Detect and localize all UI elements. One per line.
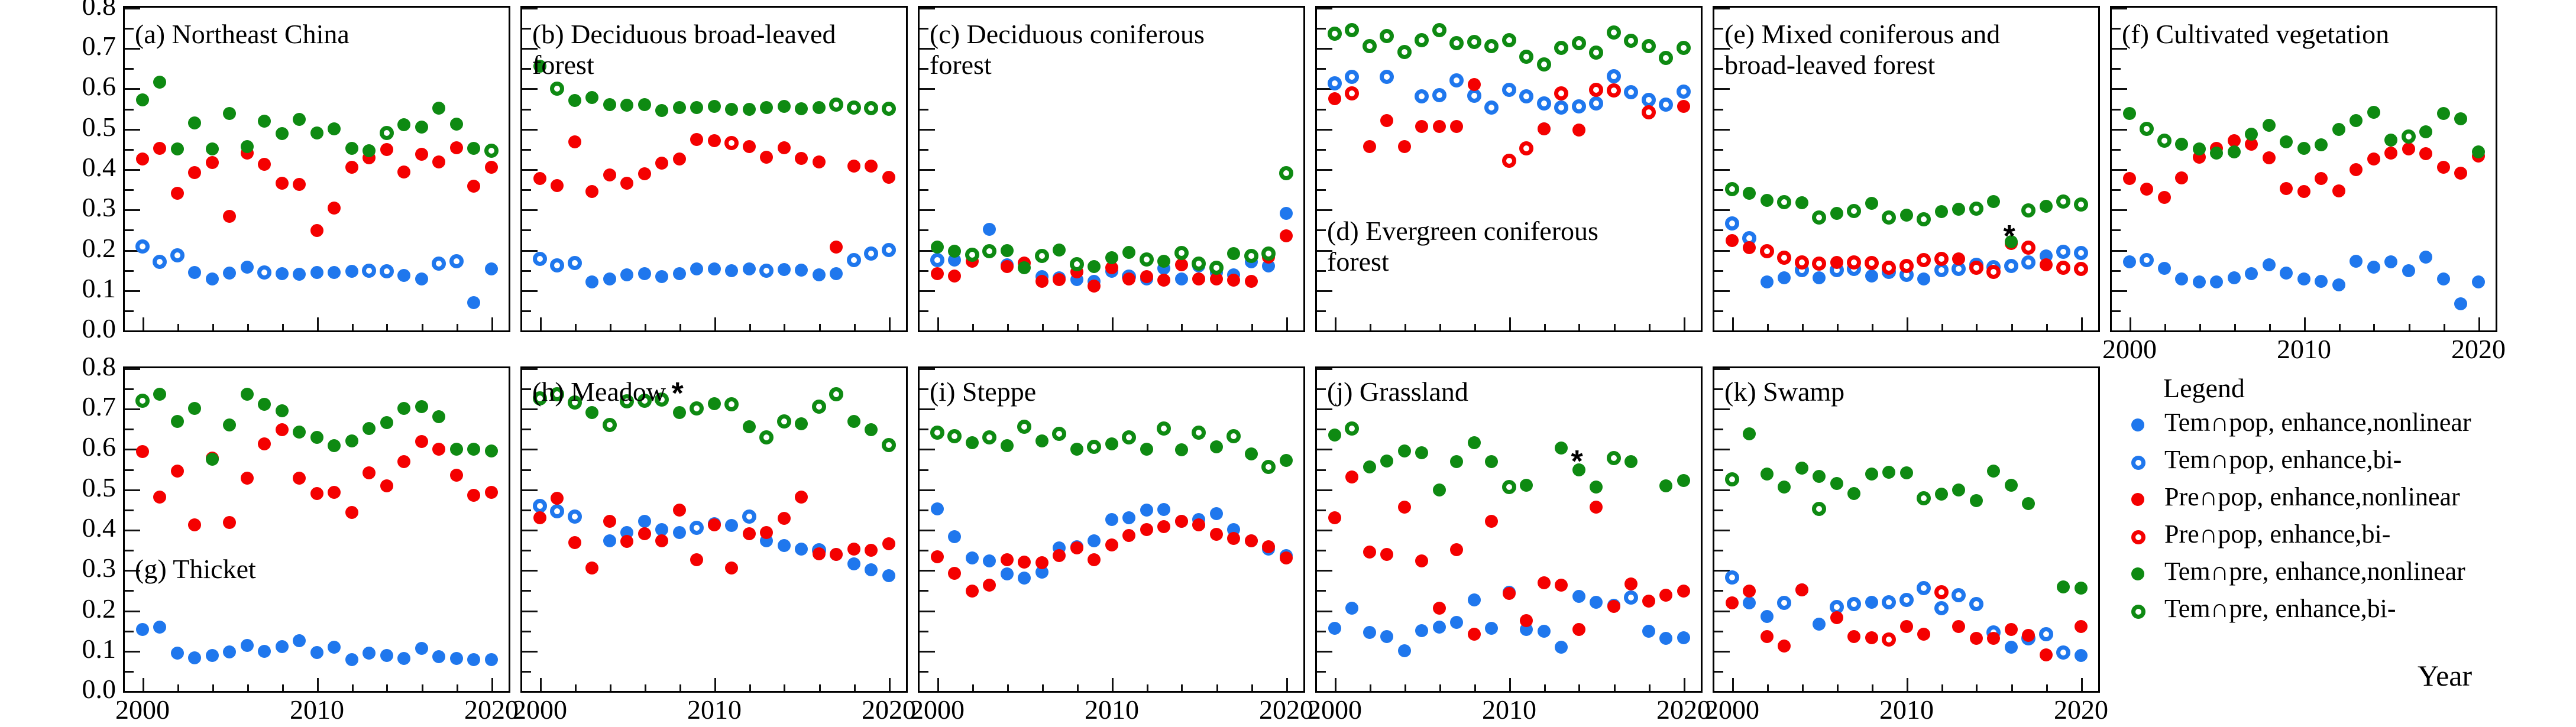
data-point <box>345 653 358 666</box>
y-tick-a <box>125 48 140 50</box>
data-point <box>415 121 428 134</box>
y-tick-c <box>920 290 935 292</box>
panel-label-c: (c) Deciduous coniferous forest <box>930 19 1205 81</box>
y-tick-d <box>1317 250 1332 252</box>
data-point <box>1227 247 1240 260</box>
panel-label-f: (f) Cultivated vegetation <box>2122 19 2389 50</box>
data-point <box>397 402 410 415</box>
data-point <box>1865 270 1878 283</box>
data-point <box>2140 183 2153 196</box>
data-point <box>2005 623 2018 636</box>
data-point <box>467 180 480 193</box>
data-point <box>533 172 546 185</box>
data-point <box>1157 255 1170 268</box>
x-tick-a <box>386 324 388 330</box>
data-point <box>620 535 633 548</box>
y-tick-k <box>1714 429 1723 430</box>
data-point <box>135 394 150 408</box>
data-point <box>533 60 546 73</box>
x-tick-a <box>352 324 354 330</box>
data-point <box>568 256 582 270</box>
data-point <box>1725 472 1739 486</box>
y-tick-label: 0.6 <box>82 433 116 460</box>
data-point <box>603 272 616 285</box>
y-tick-c <box>920 189 928 191</box>
data-point <box>813 101 826 114</box>
y-tick-j <box>1317 388 1326 390</box>
data-point <box>982 244 996 258</box>
data-point <box>550 387 564 401</box>
data-point <box>467 489 480 502</box>
x-tick-g <box>491 678 493 691</box>
data-point <box>1001 260 1014 273</box>
data-point <box>206 156 219 169</box>
data-point <box>1380 114 1393 127</box>
data-point <box>1761 194 1774 207</box>
y-tick-f <box>2112 189 2121 191</box>
open-circle-icon <box>2131 456 2145 470</box>
panel-d: (d) Evergreen coniferous forest <box>1315 6 1703 332</box>
y-tick-b <box>522 310 531 312</box>
y-tick-j <box>1317 590 1326 592</box>
data-point <box>1502 154 1516 168</box>
data-point <box>864 101 878 115</box>
data-point <box>1485 515 1498 528</box>
data-point <box>1986 265 2001 279</box>
y-tick-e <box>1714 250 1730 252</box>
x-tick-e <box>1872 324 1873 330</box>
data-point <box>1743 187 1756 200</box>
data-point <box>1677 85 1691 99</box>
data-point <box>485 653 498 666</box>
data-point <box>1485 455 1498 468</box>
data-point <box>1812 210 1826 225</box>
panel-label-i: (i) Steppe <box>930 377 1036 407</box>
data-point <box>1175 272 1188 285</box>
data-point <box>2437 272 2450 285</box>
y-tick-label: 0.8 <box>82 0 116 20</box>
data-point <box>2332 184 2345 197</box>
data-point <box>293 268 306 281</box>
y-tick-i <box>920 388 928 390</box>
data-point <box>690 133 703 146</box>
data-point <box>1607 451 1621 465</box>
y-axis-title: q value of interaction detection <box>0 0 33 73</box>
y-tick-label: 0.4 <box>82 514 116 541</box>
data-point <box>1328 622 1341 635</box>
x-tick-d <box>1684 317 1685 330</box>
data-point <box>171 142 184 155</box>
data-point <box>2056 194 2070 209</box>
x-tick-e <box>1802 324 1804 330</box>
data-point <box>1899 259 1914 273</box>
data-point <box>1969 202 1983 216</box>
data-point <box>485 161 498 174</box>
data-point <box>1035 556 1048 569</box>
data-point <box>655 270 668 283</box>
legend-item-label: Pre∩pop, enhance,bi- <box>2164 521 2390 548</box>
y-tick-b <box>522 250 538 252</box>
data-point <box>223 210 236 223</box>
x-tick-c <box>1286 317 1288 330</box>
y-tick-c <box>920 88 935 90</box>
y-tick-f <box>2112 129 2127 131</box>
y-tick-e <box>1714 169 1730 171</box>
y-tick-b <box>522 290 538 292</box>
data-point <box>2056 245 2070 259</box>
x-tick-h <box>749 684 751 691</box>
x-tick-label: 2000 <box>910 694 965 725</box>
data-point <box>1433 120 1446 133</box>
data-point <box>2040 258 2053 271</box>
filled-circle-icon <box>2131 567 2144 580</box>
data-point <box>1397 45 1412 59</box>
data-point <box>620 394 634 408</box>
y-tick-k <box>1714 489 1730 491</box>
x-tick-label: 2000 <box>2102 333 2157 365</box>
x-tick-c <box>1181 324 1183 330</box>
data-point <box>690 262 703 275</box>
data-point <box>223 418 236 431</box>
data-point <box>1642 93 1656 107</box>
data-point <box>1677 585 1690 598</box>
y-tick-c <box>920 209 935 211</box>
x-tick-label: 2010 <box>290 694 344 725</box>
data-point <box>432 257 446 271</box>
data-point <box>1830 256 1843 269</box>
data-point <box>865 423 878 436</box>
data-point <box>2075 582 2088 595</box>
data-point <box>1589 96 1603 111</box>
data-point <box>1345 470 1358 483</box>
data-point <box>830 241 843 254</box>
x-tick-d <box>1649 324 1651 330</box>
y-tick-label: 0.0 <box>82 315 116 342</box>
panel-e: *(e) Mixed coniferous and broad-leaved f… <box>1713 6 2100 332</box>
data-point <box>708 397 721 410</box>
data-point <box>1105 251 1118 264</box>
data-point <box>1105 513 1118 526</box>
x-tick-e <box>2046 324 2048 330</box>
data-point <box>1624 455 1637 468</box>
data-point <box>1017 420 1031 434</box>
x-tick-i <box>1042 684 1044 691</box>
panel-f: (f) Cultivated vegetation <box>2110 6 2497 332</box>
data-point <box>2228 271 2241 284</box>
data-point <box>1280 551 1293 564</box>
data-point <box>1192 272 1205 285</box>
data-point <box>830 267 843 280</box>
y-tick-d <box>1317 68 1326 70</box>
y-tick-g <box>125 611 140 612</box>
y-tick-d <box>1317 310 1326 312</box>
data-point <box>1952 620 1965 633</box>
data-point <box>725 519 738 532</box>
data-point <box>310 266 323 279</box>
y-tick-k <box>1714 550 1723 551</box>
x-tick-d <box>1614 324 1616 330</box>
data-point <box>1917 581 1931 595</box>
y-tick-i <box>920 530 935 531</box>
data-point <box>1468 593 1481 606</box>
y-tick-g <box>125 550 134 551</box>
data-point <box>223 267 236 280</box>
x-tick-i <box>1112 678 1114 691</box>
data-point <box>743 262 756 275</box>
y-tick-f <box>2112 28 2121 30</box>
data-point <box>778 263 791 276</box>
data-point <box>673 152 686 165</box>
y-tick-e <box>1714 290 1730 292</box>
data-point <box>1433 621 1446 634</box>
data-point <box>1795 196 1808 209</box>
data-point <box>171 415 184 428</box>
x-tick-f <box>2199 324 2201 330</box>
data-point <box>1070 443 1083 456</box>
significance-asterisk: * <box>1571 453 1583 471</box>
data-point <box>2193 142 2206 155</box>
data-point <box>1555 579 1568 592</box>
data-point <box>1328 27 1342 41</box>
data-point <box>743 420 756 433</box>
data-point <box>2297 185 2310 198</box>
y-tick-g <box>125 388 134 390</box>
data-point <box>847 543 860 556</box>
significance-asterisk: * <box>672 385 684 403</box>
x-tick-h <box>854 684 856 691</box>
y-tick-j <box>1317 489 1332 491</box>
x-tick-g <box>422 684 423 691</box>
data-point <box>1398 501 1411 514</box>
x-tick-d <box>1370 324 1371 330</box>
data-point <box>1624 34 1638 48</box>
data-point <box>1554 41 1568 55</box>
data-point <box>206 142 219 155</box>
data-point <box>725 264 738 277</box>
x-tick-k <box>1802 684 1804 691</box>
y-tick-b <box>522 8 538 9</box>
data-point <box>759 264 774 278</box>
data-point <box>620 99 633 112</box>
data-point <box>760 151 773 164</box>
y-tick-labels-row1: 0.00.10.20.30.40.50.60.70.8 <box>51 6 116 332</box>
y-tick-f <box>2112 8 2127 9</box>
data-point <box>223 645 236 658</box>
data-point <box>2332 123 2345 136</box>
x-tick-i <box>1147 684 1148 691</box>
data-point <box>2022 497 2035 510</box>
data-point <box>2021 203 2035 218</box>
data-point <box>2402 142 2415 155</box>
data-point <box>2158 262 2171 275</box>
x-tick-g <box>317 678 319 691</box>
legend-item-label: Tem∩pre, enhance,nonlinear <box>2164 558 2465 585</box>
x-tick-h <box>645 684 646 691</box>
data-point <box>1415 120 1428 133</box>
data-point <box>450 443 463 456</box>
data-point <box>1970 632 1983 645</box>
y-tick-b <box>522 149 531 151</box>
x-tick-a <box>457 324 458 330</box>
x-tick-labels-panel-f: 200020102020 <box>2110 333 2497 366</box>
data-point <box>2123 107 2136 120</box>
data-point <box>1659 98 1673 112</box>
data-point <box>2040 200 2053 213</box>
x-tick-label: 2000 <box>1308 694 1362 725</box>
data-point <box>795 543 808 556</box>
y-tick-k <box>1714 509 1723 511</box>
data-point <box>533 252 547 266</box>
data-point <box>276 404 289 417</box>
data-point <box>982 430 996 444</box>
x-tick-g <box>457 684 458 691</box>
data-point <box>2315 275 2328 288</box>
plot-area-g: (g) Thicket <box>125 368 509 691</box>
y-tick-i <box>920 570 935 572</box>
data-point <box>1778 481 1791 494</box>
data-point <box>1088 534 1101 547</box>
data-point <box>865 544 878 557</box>
x-tick-k <box>1767 684 1769 691</box>
data-point <box>1642 105 1656 119</box>
x-tick-i <box>972 684 974 691</box>
data-point <box>1743 427 1756 440</box>
data-point <box>258 115 271 128</box>
y-tick-b <box>522 270 531 272</box>
y-tick-j <box>1317 550 1326 551</box>
data-point <box>2005 641 2018 654</box>
plot-area-f: (f) Cultivated vegetation <box>2112 8 2496 330</box>
data-point <box>777 414 791 429</box>
y-tick-f <box>2112 310 2121 312</box>
y-tick-a <box>125 290 140 292</box>
data-point <box>1900 466 1913 479</box>
data-point <box>293 634 306 647</box>
data-point <box>1175 443 1188 456</box>
data-point <box>450 652 463 665</box>
data-point <box>708 262 721 275</box>
x-tick-k <box>1907 678 1908 691</box>
data-point <box>1053 273 1066 286</box>
y-tick-f <box>2112 270 2121 272</box>
y-tick-b <box>522 109 531 111</box>
x-tick-d <box>1439 324 1441 330</box>
data-point <box>864 246 878 261</box>
panel-k: (k) Swamp <box>1713 366 2100 693</box>
y-tick-h <box>522 408 538 410</box>
data-point <box>345 142 358 155</box>
data-point <box>983 223 996 236</box>
y-tick-k <box>1714 651 1730 653</box>
y-tick-j <box>1317 449 1332 450</box>
data-point <box>1537 96 1551 111</box>
y-tick-g <box>125 530 140 531</box>
data-point <box>882 569 895 582</box>
y-tick-h <box>522 489 538 491</box>
data-point <box>258 437 271 450</box>
data-point <box>1018 556 1031 569</box>
data-point <box>1659 51 1673 65</box>
x-tick-i <box>1077 684 1079 691</box>
data-point <box>345 161 358 174</box>
data-point <box>847 557 860 570</box>
data-point <box>638 267 651 280</box>
x-tick-e <box>1732 317 1734 330</box>
data-point <box>1192 518 1205 531</box>
data-point <box>1157 503 1170 516</box>
x-tick-j <box>1544 684 1546 691</box>
y-tick-b <box>522 189 531 191</box>
y-tick-labels-row2: 0.00.10.20.30.40.50.60.70.8 <box>51 366 116 693</box>
data-point <box>1001 567 1014 580</box>
x-tick-label: 2010 <box>1482 694 1536 725</box>
data-point <box>485 444 498 457</box>
data-point <box>223 516 236 529</box>
data-point <box>1519 89 1533 103</box>
data-point <box>380 264 394 278</box>
data-point <box>603 168 616 181</box>
data-point <box>1001 244 1014 257</box>
data-point <box>170 248 185 262</box>
data-point <box>2402 129 2416 144</box>
data-point <box>1363 460 1376 473</box>
data-point <box>1070 541 1083 554</box>
x-tick-f <box>2130 317 2131 330</box>
y-tick-a <box>125 310 134 312</box>
y-tick-d <box>1317 290 1332 292</box>
x-tick-c <box>1147 324 1148 330</box>
data-point <box>380 126 394 140</box>
data-point <box>1830 477 1843 490</box>
data-point <box>1607 25 1621 40</box>
data-point <box>2280 135 2293 148</box>
data-point <box>2350 114 2363 127</box>
data-point <box>1987 632 2000 645</box>
data-point <box>725 562 738 575</box>
data-point <box>1001 553 1014 566</box>
y-tick-c <box>920 229 928 231</box>
y-tick-i <box>920 368 935 370</box>
data-point <box>171 187 184 200</box>
data-point <box>1865 468 1878 481</box>
y-tick-a <box>125 109 134 111</box>
data-point <box>1642 39 1656 53</box>
data-point <box>2175 138 2188 151</box>
x-tick-i <box>1251 684 1253 691</box>
data-point <box>1122 246 1135 259</box>
x-tick-k <box>1976 684 1978 691</box>
panel-g: (g) Thicket <box>123 366 510 693</box>
data-point <box>2367 152 2380 165</box>
data-point <box>1450 455 1463 468</box>
data-point <box>1726 596 1739 609</box>
data-point <box>966 551 979 564</box>
x-tick-b <box>784 324 785 330</box>
legend-item-label: Tem∩pop, enhance,nonlinear <box>2164 409 2471 436</box>
data-point <box>1449 73 1464 87</box>
data-point <box>813 547 826 560</box>
data-point <box>1415 33 1429 47</box>
data-point <box>2263 258 2276 271</box>
x-tick-i <box>1181 684 1183 691</box>
panel-label-a: (a) Northeast China <box>135 19 349 50</box>
data-point <box>1175 258 1188 271</box>
data-point <box>1624 577 1637 590</box>
data-point <box>882 438 896 452</box>
data-point <box>1572 590 1585 603</box>
data-point <box>742 509 756 524</box>
data-point <box>1398 140 1411 153</box>
